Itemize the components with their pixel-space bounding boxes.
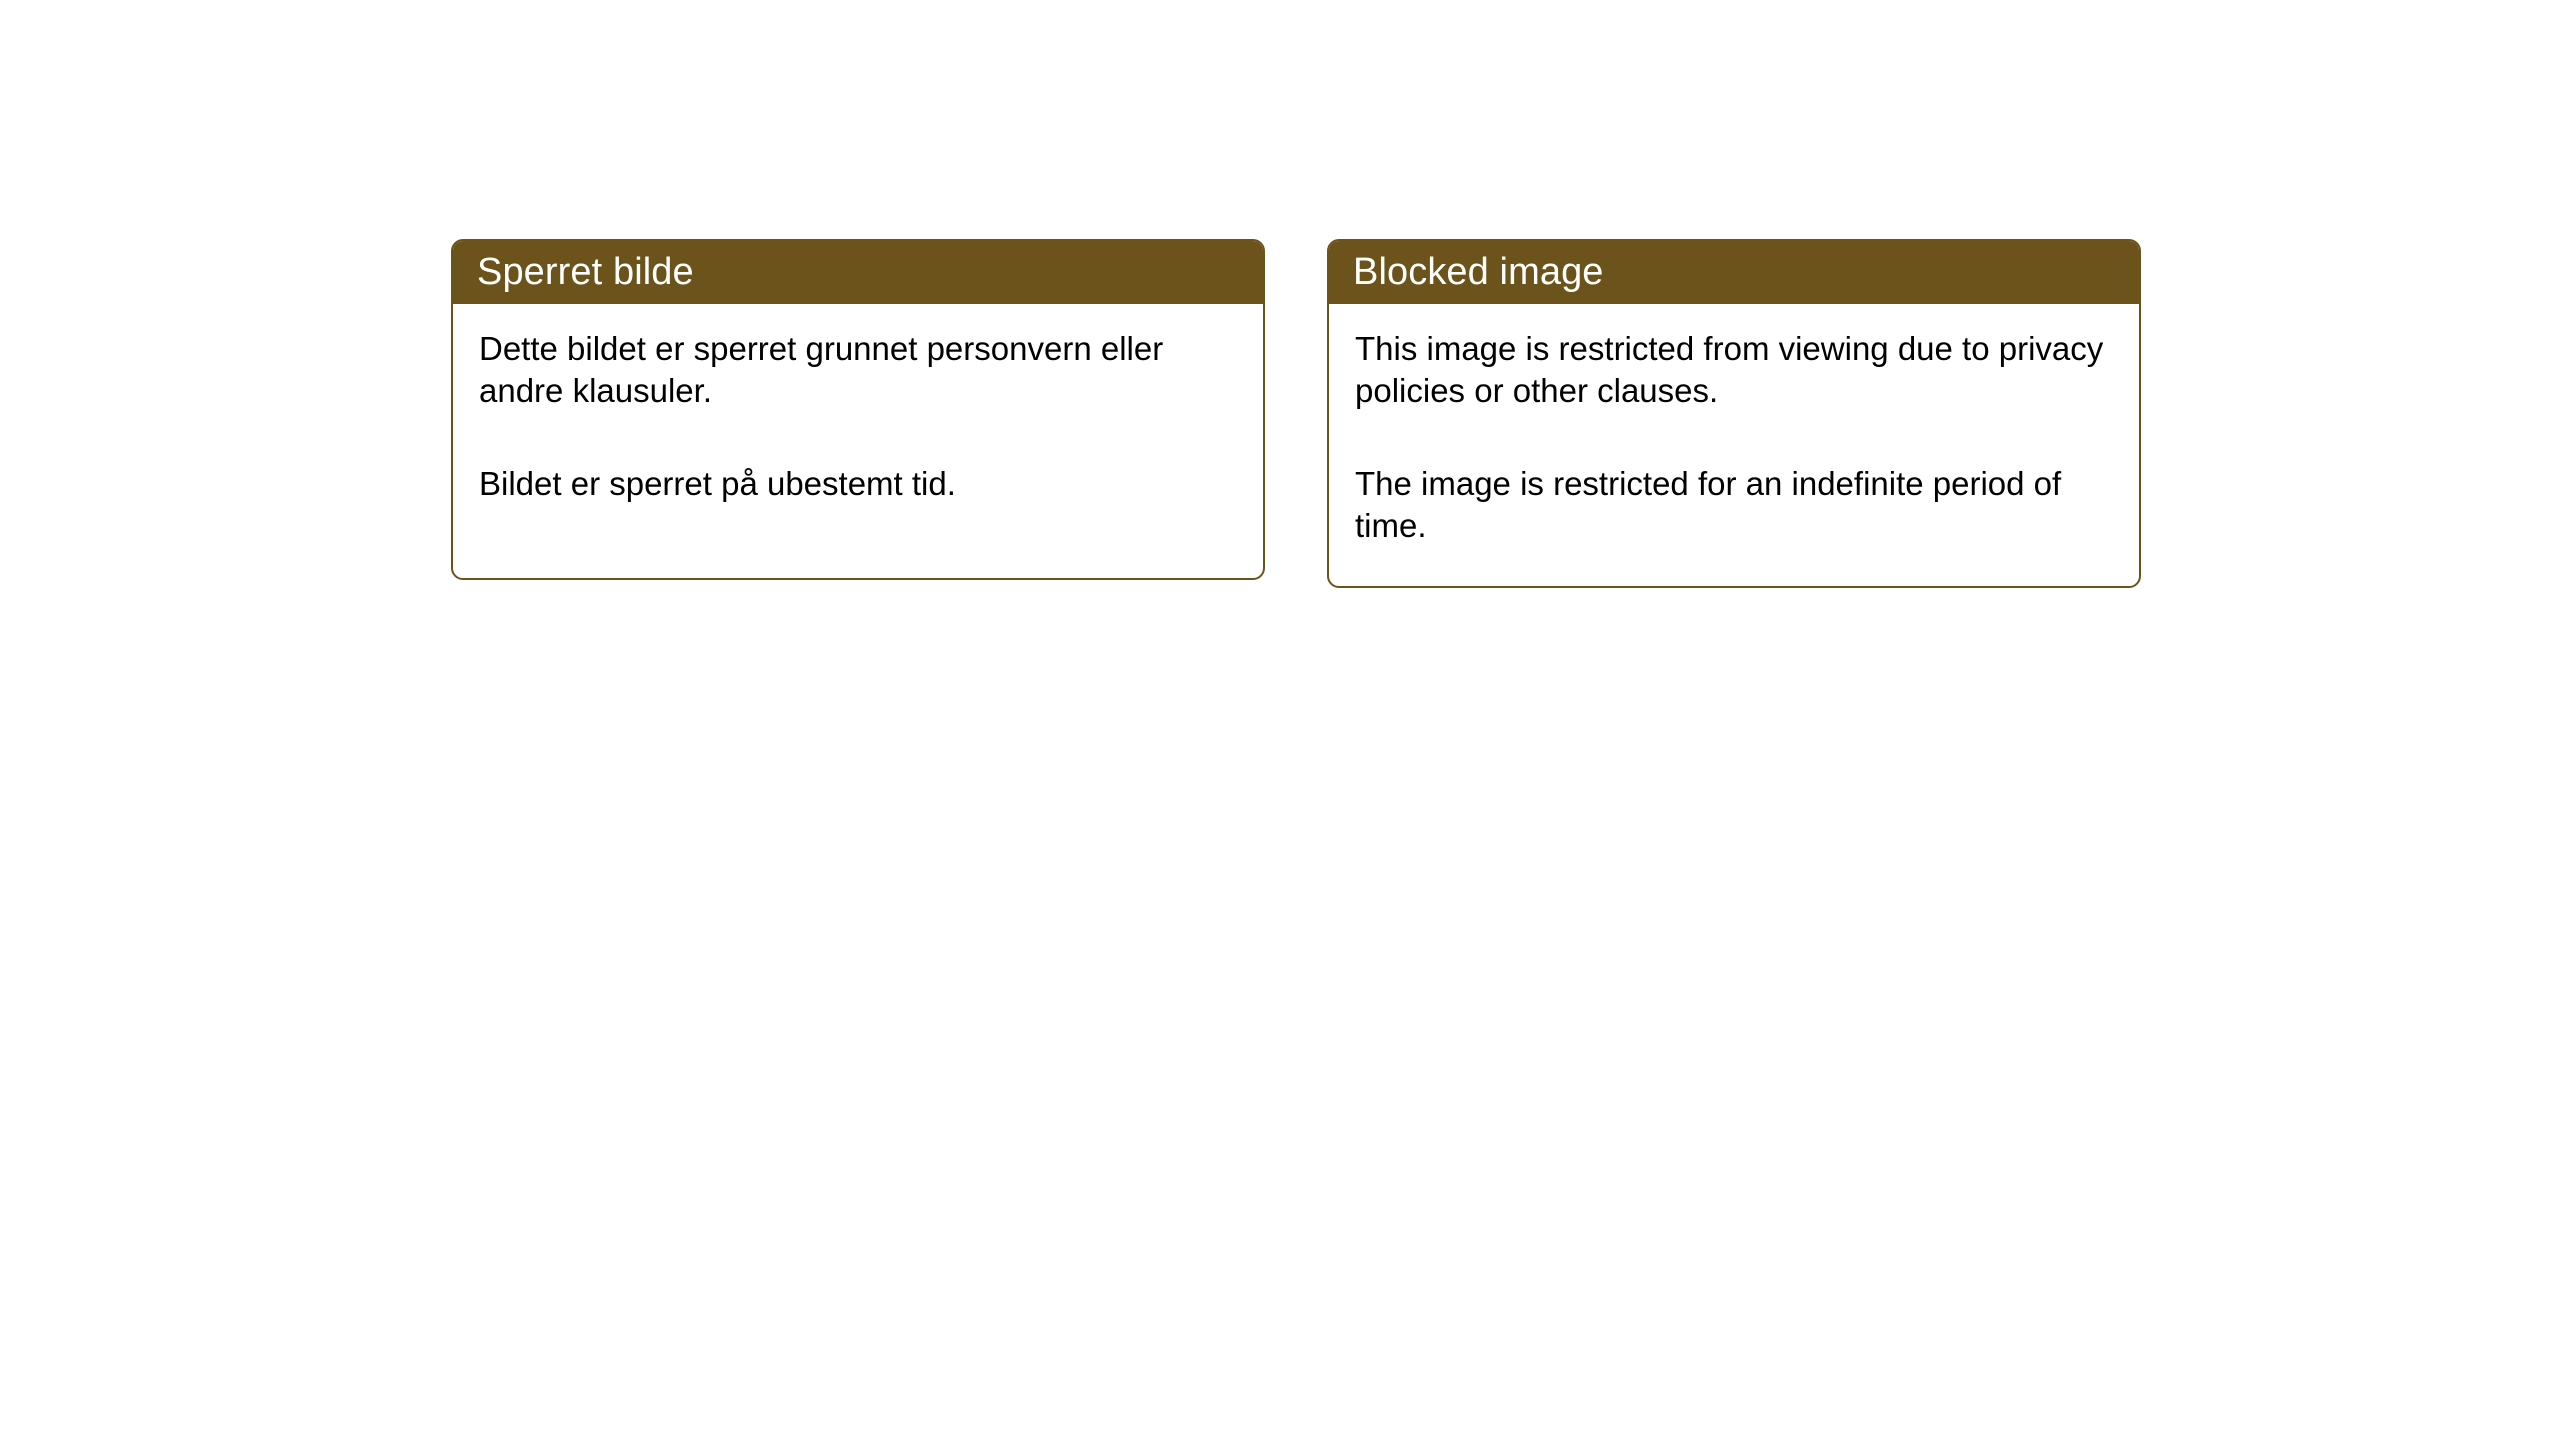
blocked-image-card-english: Blocked image This image is restricted f… — [1327, 239, 2141, 588]
card-body-norwegian: Dette bildet er sperret grunnet personve… — [453, 304, 1263, 578]
card-body-english: This image is restricted from viewing du… — [1329, 304, 2139, 586]
blocked-image-notice-group: Sperret bilde Dette bildet er sperret gr… — [451, 239, 2141, 588]
card-paragraph-english-1: This image is restricted from viewing du… — [1355, 328, 2113, 411]
card-paragraph-norwegian-1: Dette bildet er sperret grunnet personve… — [479, 328, 1237, 411]
card-title-english: Blocked image — [1327, 239, 2141, 304]
card-paragraph-norwegian-2: Bildet er sperret på ubestemt tid. — [479, 463, 1237, 505]
card-paragraph-english-2: The image is restricted for an indefinit… — [1355, 463, 2113, 546]
card-title-norwegian: Sperret bilde — [451, 239, 1265, 304]
blocked-image-card-norwegian: Sperret bilde Dette bildet er sperret gr… — [451, 239, 1265, 580]
